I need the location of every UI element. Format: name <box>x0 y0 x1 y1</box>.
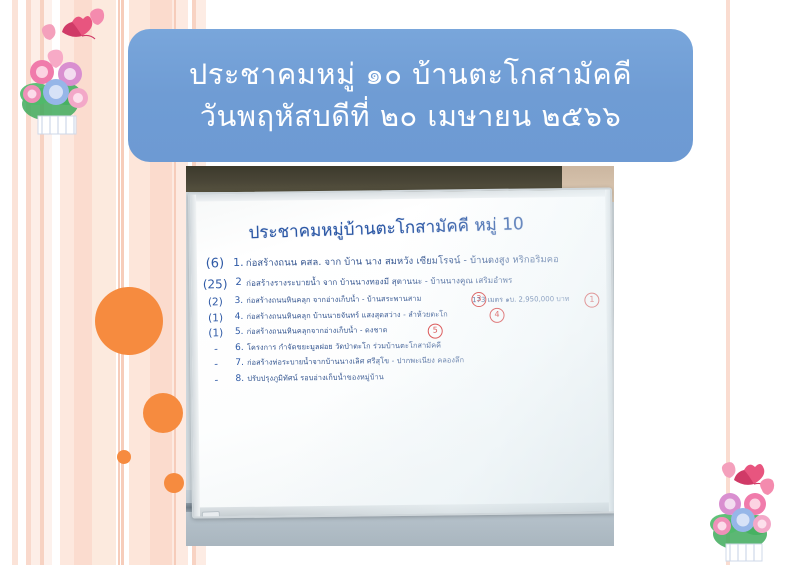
whiteboard-title: ประชาคมหมู่บ้านตะโกสามัคคี หมู่ 10 <box>248 208 579 246</box>
banner-title-line2: วันพฤหัสบดีที่ ๒๐ เมษายน ๒๕๖๖ <box>200 96 622 137</box>
agenda-vote-count: - <box>200 374 232 386</box>
scrapbook-page: ประชาคมหมู่ ๑๐ บ้านตะโกสามัคคี วันพฤหัสบ… <box>0 0 800 565</box>
agenda-item-number: 6. <box>232 342 247 352</box>
agenda-item-number: 1. <box>231 256 246 269</box>
agenda-vote-count: - <box>200 358 232 370</box>
whiteboard-frame-left <box>190 195 200 517</box>
agenda-vote-count: (2) <box>199 296 231 308</box>
agenda-item-number: 4. <box>231 311 246 321</box>
title-banner: ประชาคมหมู่ ๑๐ บ้านตะโกสามัคคี วันพฤหัสบ… <box>128 29 693 162</box>
agenda-item-amount: 173 เมตร ๑บ. 2,950,000 บาท <box>472 294 569 306</box>
agenda-item-number: 7. <box>232 358 247 368</box>
flower-bouquet-icon <box>700 452 790 564</box>
agenda-item-text: ก่อสร้างถนน คสล. จาก บ้าน นาง สมหวัง เซี… <box>246 252 603 271</box>
decorative-circle-tiny <box>164 473 184 493</box>
agenda-item-number: 5. <box>232 327 247 337</box>
whiteboard-eraser <box>202 511 220 519</box>
agenda-item-number: 8. <box>232 373 247 383</box>
agenda-rank-badge: 4 <box>489 307 504 322</box>
agenda-rank-badge: 3 <box>471 292 486 307</box>
agenda-rank-badge-top: 1 <box>584 293 599 308</box>
background-stripe-accent <box>118 0 120 565</box>
agenda-vote-count: - <box>200 343 232 355</box>
agenda-item-number: 3. <box>231 296 246 306</box>
whiteboard-frame-top <box>190 189 610 201</box>
agenda-vote-count: (1) <box>200 327 232 339</box>
decorative-circle-medium <box>143 393 183 433</box>
agenda-item-number: 2 <box>231 277 246 288</box>
agenda-rank-badge: 5 <box>428 324 443 339</box>
decorative-circle-large <box>95 287 163 355</box>
whiteboard-photograph: ประชาคมหมู่บ้านตะโกสามัคคี หมู่ 10 (6) 1… <box>186 166 614 546</box>
flower-bouquet-icon <box>14 6 110 138</box>
agenda-vote-count: (25) <box>199 277 231 291</box>
agenda-vote-count: (1) <box>199 312 231 324</box>
banner-title-line1: ประชาคมหมู่ ๑๐ บ้านตะโกสามัคคี <box>189 54 632 95</box>
decorative-circle-small <box>117 450 131 464</box>
whiteboard: ประชาคมหมู่บ้านตะโกสามัคคี หมู่ 10 (6) 1… <box>188 187 614 518</box>
whiteboard-agenda-list: (6) 1. ก่อสร้างถนน คสล. จาก บ้าน นาง สมห… <box>199 252 605 390</box>
whiteboard-frame-right <box>605 189 614 511</box>
agenda-vote-count: (6) <box>199 256 231 271</box>
